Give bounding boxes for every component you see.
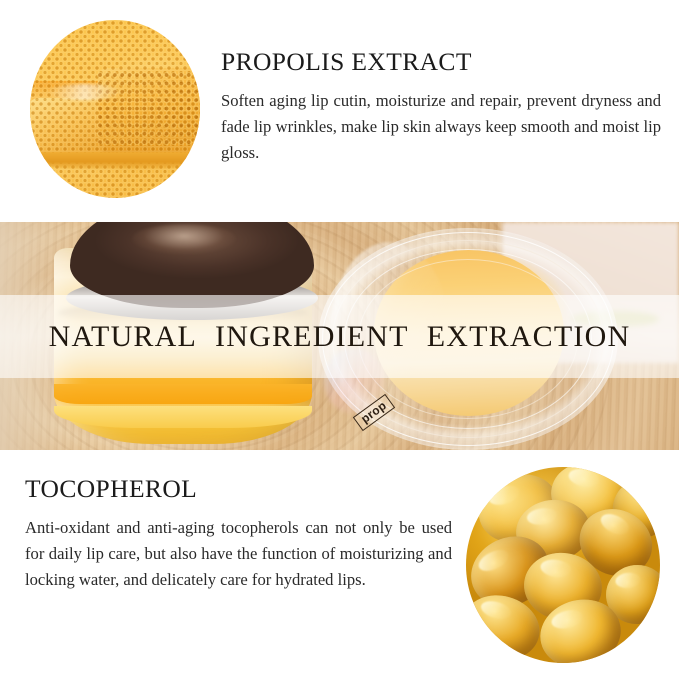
tocopherol-section: TOCOPHEROL Anti-oxidant and anti-aging t… xyxy=(0,450,679,679)
tocopherol-text-block: TOCOPHEROL Anti-oxidant and anti-aging t… xyxy=(25,475,452,593)
jar-yellow-stripe xyxy=(54,406,312,428)
propolis-body: Soften aging lip cutin, moisturize and r… xyxy=(221,88,661,166)
honeycomb-circle-image xyxy=(30,20,200,198)
propolis-section: PROPOLIS EXTRACT Soften aging lip cutin,… xyxy=(0,0,679,222)
capsule-sheen xyxy=(466,467,660,663)
banner-section: prop NATURALINGREDIENTEXTRACTION xyxy=(0,222,679,450)
propolis-text-block: PROPOLIS EXTRACT Soften aging lip cutin,… xyxy=(221,48,661,166)
tocopherol-title: TOCOPHEROL xyxy=(25,475,452,503)
tocopherol-body: Anti-oxidant and anti-aging tocopherols … xyxy=(25,515,452,593)
tocopherol-capsules-circle-image xyxy=(466,467,660,663)
honeycomb-cell-texture-right xyxy=(95,70,200,145)
jar-orange-stripe xyxy=(54,384,312,404)
banner-title: NATURALINGREDIENTEXTRACTION xyxy=(0,295,679,378)
honey-highlight xyxy=(47,84,122,100)
honey-drip xyxy=(37,152,193,170)
jar-lid-highlight xyxy=(132,224,236,254)
propolis-title: PROPOLIS EXTRACT xyxy=(221,48,661,76)
infographic-page: PROPOLIS EXTRACT Soften aging lip cutin,… xyxy=(0,0,679,679)
